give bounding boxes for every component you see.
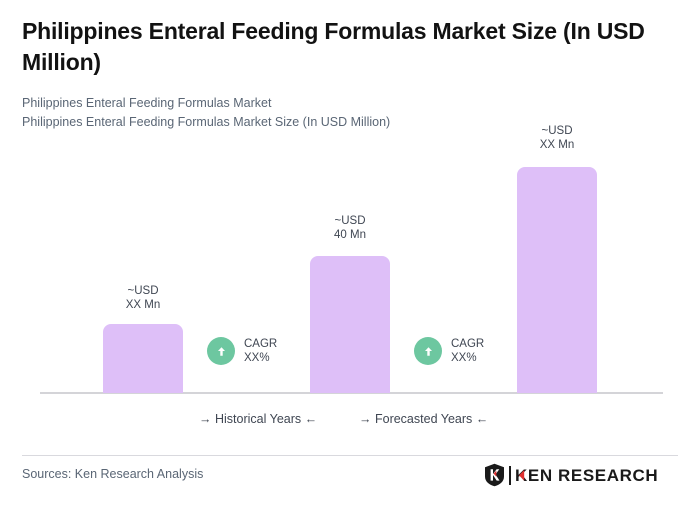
bar-label-forecasted-line-2: XX Mn (497, 138, 617, 152)
axis-label-historical-years: → Historical Years ← (199, 411, 317, 427)
arrow-left-icon: ← (305, 412, 318, 426)
axis-label-historical-text: Historical Years (215, 412, 301, 426)
ken-research-logo: KEN RESEARCH (484, 463, 667, 487)
bar-label-historical-line-1: ~USD (83, 284, 203, 298)
cagr-annotation-2: CAGR XX% (414, 337, 484, 365)
cagr-label-2-line-2: XX% (451, 352, 477, 364)
bar-label-base-year-line-1: ~USD (290, 214, 410, 228)
bar-historical (103, 324, 183, 393)
cagr-label-2-line-1: CAGR (451, 338, 484, 350)
bar-label-base-year: ~USD 40 Mn (290, 214, 410, 242)
page-title: Philippines Enteral Feeding Formulas Mar… (22, 16, 682, 78)
axis-baseline (40, 392, 663, 394)
footer-divider (22, 455, 678, 456)
logo-divider (509, 466, 511, 485)
axis-label-forecasted-text: Forecasted Years (375, 412, 472, 426)
bar-base-year (310, 256, 390, 393)
arrow-right-icon: → (359, 412, 372, 426)
cagr-annotation-1: CAGR XX% (207, 337, 277, 365)
cagr-label-1-line-1: CAGR (244, 338, 277, 350)
shield-logo-icon (484, 463, 505, 487)
arrow-left-icon: ← (476, 412, 489, 426)
cagr-label-1: CAGR XX% (244, 337, 277, 365)
logo-wordmark-text: KEN RESEARCH (515, 466, 658, 485)
subtitle-line-1: Philippines Enteral Feeding Formulas Mar… (22, 94, 682, 113)
ken-research-wordmark: KEN RESEARCH (515, 465, 667, 486)
bar-label-historical-line-2: XX Mn (83, 298, 203, 312)
subtitle-block: Philippines Enteral Feeding Formulas Mar… (22, 94, 682, 131)
bar-forecasted (517, 167, 597, 393)
axis-label-forecasted-years: → Forecasted Years ← (359, 411, 488, 427)
bar-label-historical: ~USD XX Mn (83, 284, 203, 312)
cagr-label-2: CAGR XX% (451, 337, 484, 365)
chart-card: Philippines Enteral Feeding Formulas Mar… (0, 0, 700, 520)
sources-text: Sources: Ken Research Analysis (22, 466, 203, 483)
bar-label-base-year-line-2: 40 Mn (290, 228, 410, 242)
cagr-label-1-line-2: XX% (244, 352, 270, 364)
subtitle-line-2: Philippines Enteral Feeding Formulas Mar… (22, 113, 682, 132)
arrow-up-icon (207, 337, 235, 365)
arrow-right-icon: → (199, 412, 212, 426)
arrow-up-icon (414, 337, 442, 365)
chart-header: Philippines Enteral Feeding Formulas Mar… (22, 16, 682, 131)
